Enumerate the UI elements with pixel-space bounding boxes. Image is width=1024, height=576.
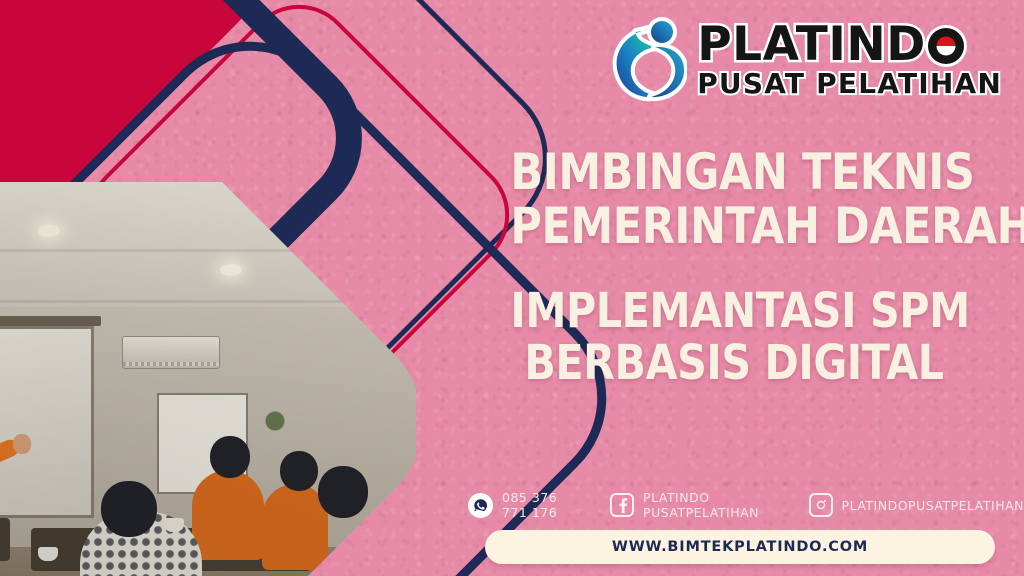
contact-whatsapp[interactable]: 085 376 771 176 (468, 490, 586, 520)
facebook-glyph (616, 498, 629, 513)
brand-logo: PLATIND PUSAT PELATIHAN (605, 14, 1002, 104)
website-url: WWW.BIMTEKPLATINDO.COM (612, 539, 868, 555)
contact-instagram[interactable]: PLATINDOPUSATPELATIHAN (809, 493, 1024, 517)
logo-brand-name: PLATIND (697, 22, 1002, 68)
headline-line-4: BERBASIS DIGITAL (510, 340, 957, 386)
logo-flag-o-icon (924, 22, 968, 68)
website-pill[interactable]: WWW.BIMTEKPLATINDO.COM (485, 530, 995, 564)
instagram-handle: PLATINDOPUSATPELATIHAN (842, 498, 1024, 513)
instagram-icon[interactable] (809, 493, 833, 517)
headline-line-1: BIMBINGAN TEKNIS (510, 148, 957, 196)
whatsapp-icon[interactable] (468, 493, 493, 518)
headline-line-3: IMPLEMANTASI SPM (510, 288, 957, 334)
headline-block: BIMBINGAN TEKNIS PEMERINTAH DAERAH IMPLE… (474, 148, 994, 386)
logo-brand-text: PLATIND (697, 23, 926, 66)
contact-facebook[interactable]: PLATINDO PUSATPELATIHAN (610, 490, 785, 520)
logo-tagline: PUSAT PELATIHAN (697, 71, 1002, 97)
logo-wordmark: PLATIND PUSAT PELATIHAN (697, 22, 1002, 97)
instagram-glyph (814, 498, 828, 512)
headline-line-2: PEMERINTAH DAERAH (510, 202, 957, 250)
facebook-icon[interactable] (610, 493, 634, 517)
contact-strip: 085 376 771 176 PLATINDO PUSATPELATIHAN … (468, 490, 1024, 520)
platindo-wave-figure-mark (605, 14, 687, 104)
whatsapp-glyph (473, 498, 488, 513)
whatsapp-number: 085 376 771 176 (502, 490, 586, 520)
promo-poster: PLATIND PUSAT PELATIHAN BIMBINGAN TEKNIS… (0, 0, 1024, 576)
facebook-handle: PLATINDO PUSATPELATIHAN (643, 490, 785, 520)
